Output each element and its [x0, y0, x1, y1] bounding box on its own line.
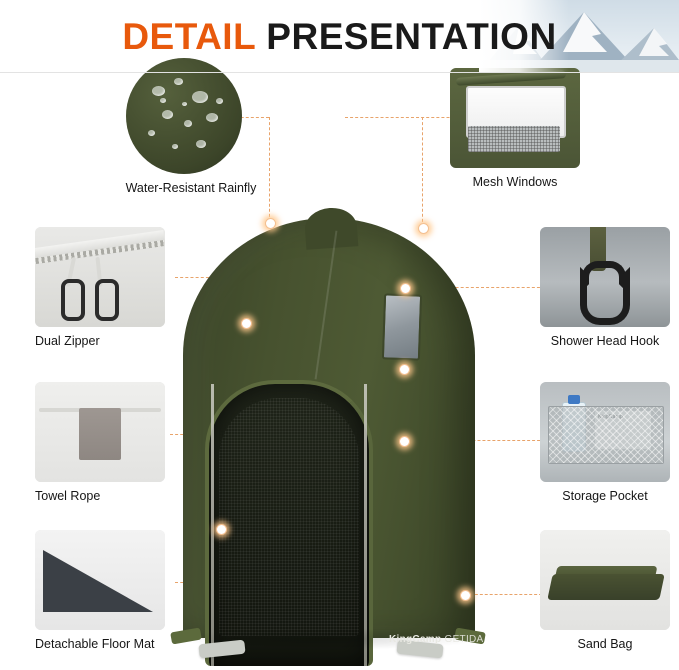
- caption-towel-rope: Towel Rope: [35, 489, 165, 504]
- mesh-pocket: [548, 406, 664, 464]
- rainfly-fabric-art: [126, 58, 242, 174]
- hotspot-storage-pocket: [399, 436, 410, 447]
- mesh-screen: [468, 126, 560, 152]
- caption-storage-pocket: Storage Pocket: [540, 489, 670, 504]
- thumbnail-storage-pocket: KingCamp: [540, 382, 670, 482]
- brand-model: GETIDA: [445, 634, 484, 645]
- thumbnail-rainfly: [126, 58, 242, 174]
- caption-mesh-windows: Mesh Windows: [450, 175, 580, 190]
- feature-storage-pocket: KingCamp Storage Pocket: [540, 382, 670, 504]
- tent-mesh-window: [382, 293, 422, 360]
- hotspot-towel-rope: [399, 364, 410, 375]
- hook-art: [540, 227, 670, 327]
- caption-shower-head-hook: Shower Head Hook: [525, 334, 679, 349]
- hotspot-sand-bag: [460, 590, 471, 601]
- feature-shower-head-hook: Shower Head Hook: [540, 227, 679, 349]
- thumbnail-sand-bag: [540, 530, 670, 630]
- hotspot-zipper: [241, 318, 252, 329]
- thumbnail-floor-mat: [35, 530, 165, 630]
- thumbnail-dual-zipper: [35, 227, 165, 327]
- header-banner: DETAIL PRESENTATION: [0, 0, 679, 72]
- header-divider: [0, 72, 679, 73]
- feature-towel-rope: Towel Rope: [35, 382, 165, 504]
- sand-bag-body: [547, 574, 665, 600]
- title-accent-word: DETAIL: [122, 16, 255, 57]
- hotspot-hook: [400, 283, 411, 294]
- thumbnail-mesh-windows: [450, 68, 580, 168]
- tent-door: [205, 380, 373, 666]
- tent-zipper-right: [364, 384, 367, 666]
- caption-detachable-floor-mat: Detachable Floor Mat: [35, 637, 195, 652]
- detail-diagram: KingCamp GETIDA: [0, 72, 679, 661]
- brand-name: KingCamp: [389, 634, 441, 645]
- feature-dual-zipper: Dual Zipper: [35, 227, 165, 349]
- feature-mesh-windows: Mesh Windows: [450, 68, 580, 190]
- caption-sand-bag: Sand Bag: [540, 637, 670, 652]
- hook-body: [580, 267, 630, 325]
- caption-dual-zipper: Dual Zipper: [35, 334, 165, 349]
- feature-detachable-floor-mat: Detachable Floor Mat: [35, 530, 195, 652]
- tent-peak: [304, 206, 359, 250]
- thumbnail-shower-head-hook: [540, 227, 670, 327]
- page-title: DETAIL PRESENTATION: [0, 0, 679, 72]
- zipper-pull-2: [95, 279, 119, 321]
- sand-bag-art: [540, 530, 670, 630]
- tent-door-mesh: [219, 398, 359, 636]
- brand-logo: KingCamp GETIDA: [389, 634, 484, 645]
- storage-pocket-art: KingCamp: [540, 382, 670, 482]
- hotspot-rainfly: [265, 218, 276, 229]
- zipper-art: [35, 227, 165, 327]
- title-rest-word: PRESENTATION: [256, 16, 557, 57]
- towel-rope-art: [35, 382, 165, 482]
- feature-sand-bag: Sand Bag: [540, 530, 670, 652]
- tent-zipper-left: [211, 384, 214, 666]
- mesh-window-art: [450, 68, 580, 168]
- hotspot-floor-mat: [216, 524, 227, 535]
- floor-mat-art: [35, 530, 165, 630]
- thumbnail-towel-rope: [35, 382, 165, 482]
- hotspot-mesh-window: [418, 223, 429, 234]
- zipper-pull-1: [61, 279, 85, 321]
- product-image-tent: KingCamp GETIDA: [165, 190, 495, 670]
- hanging-towel: [79, 408, 121, 460]
- feature-water-resistant-rainfly: Water-Resistant Rainfly: [126, 58, 271, 196]
- mat-shape: [43, 550, 153, 612]
- caption-water-resistant-rainfly: Water-Resistant Rainfly: [111, 181, 271, 196]
